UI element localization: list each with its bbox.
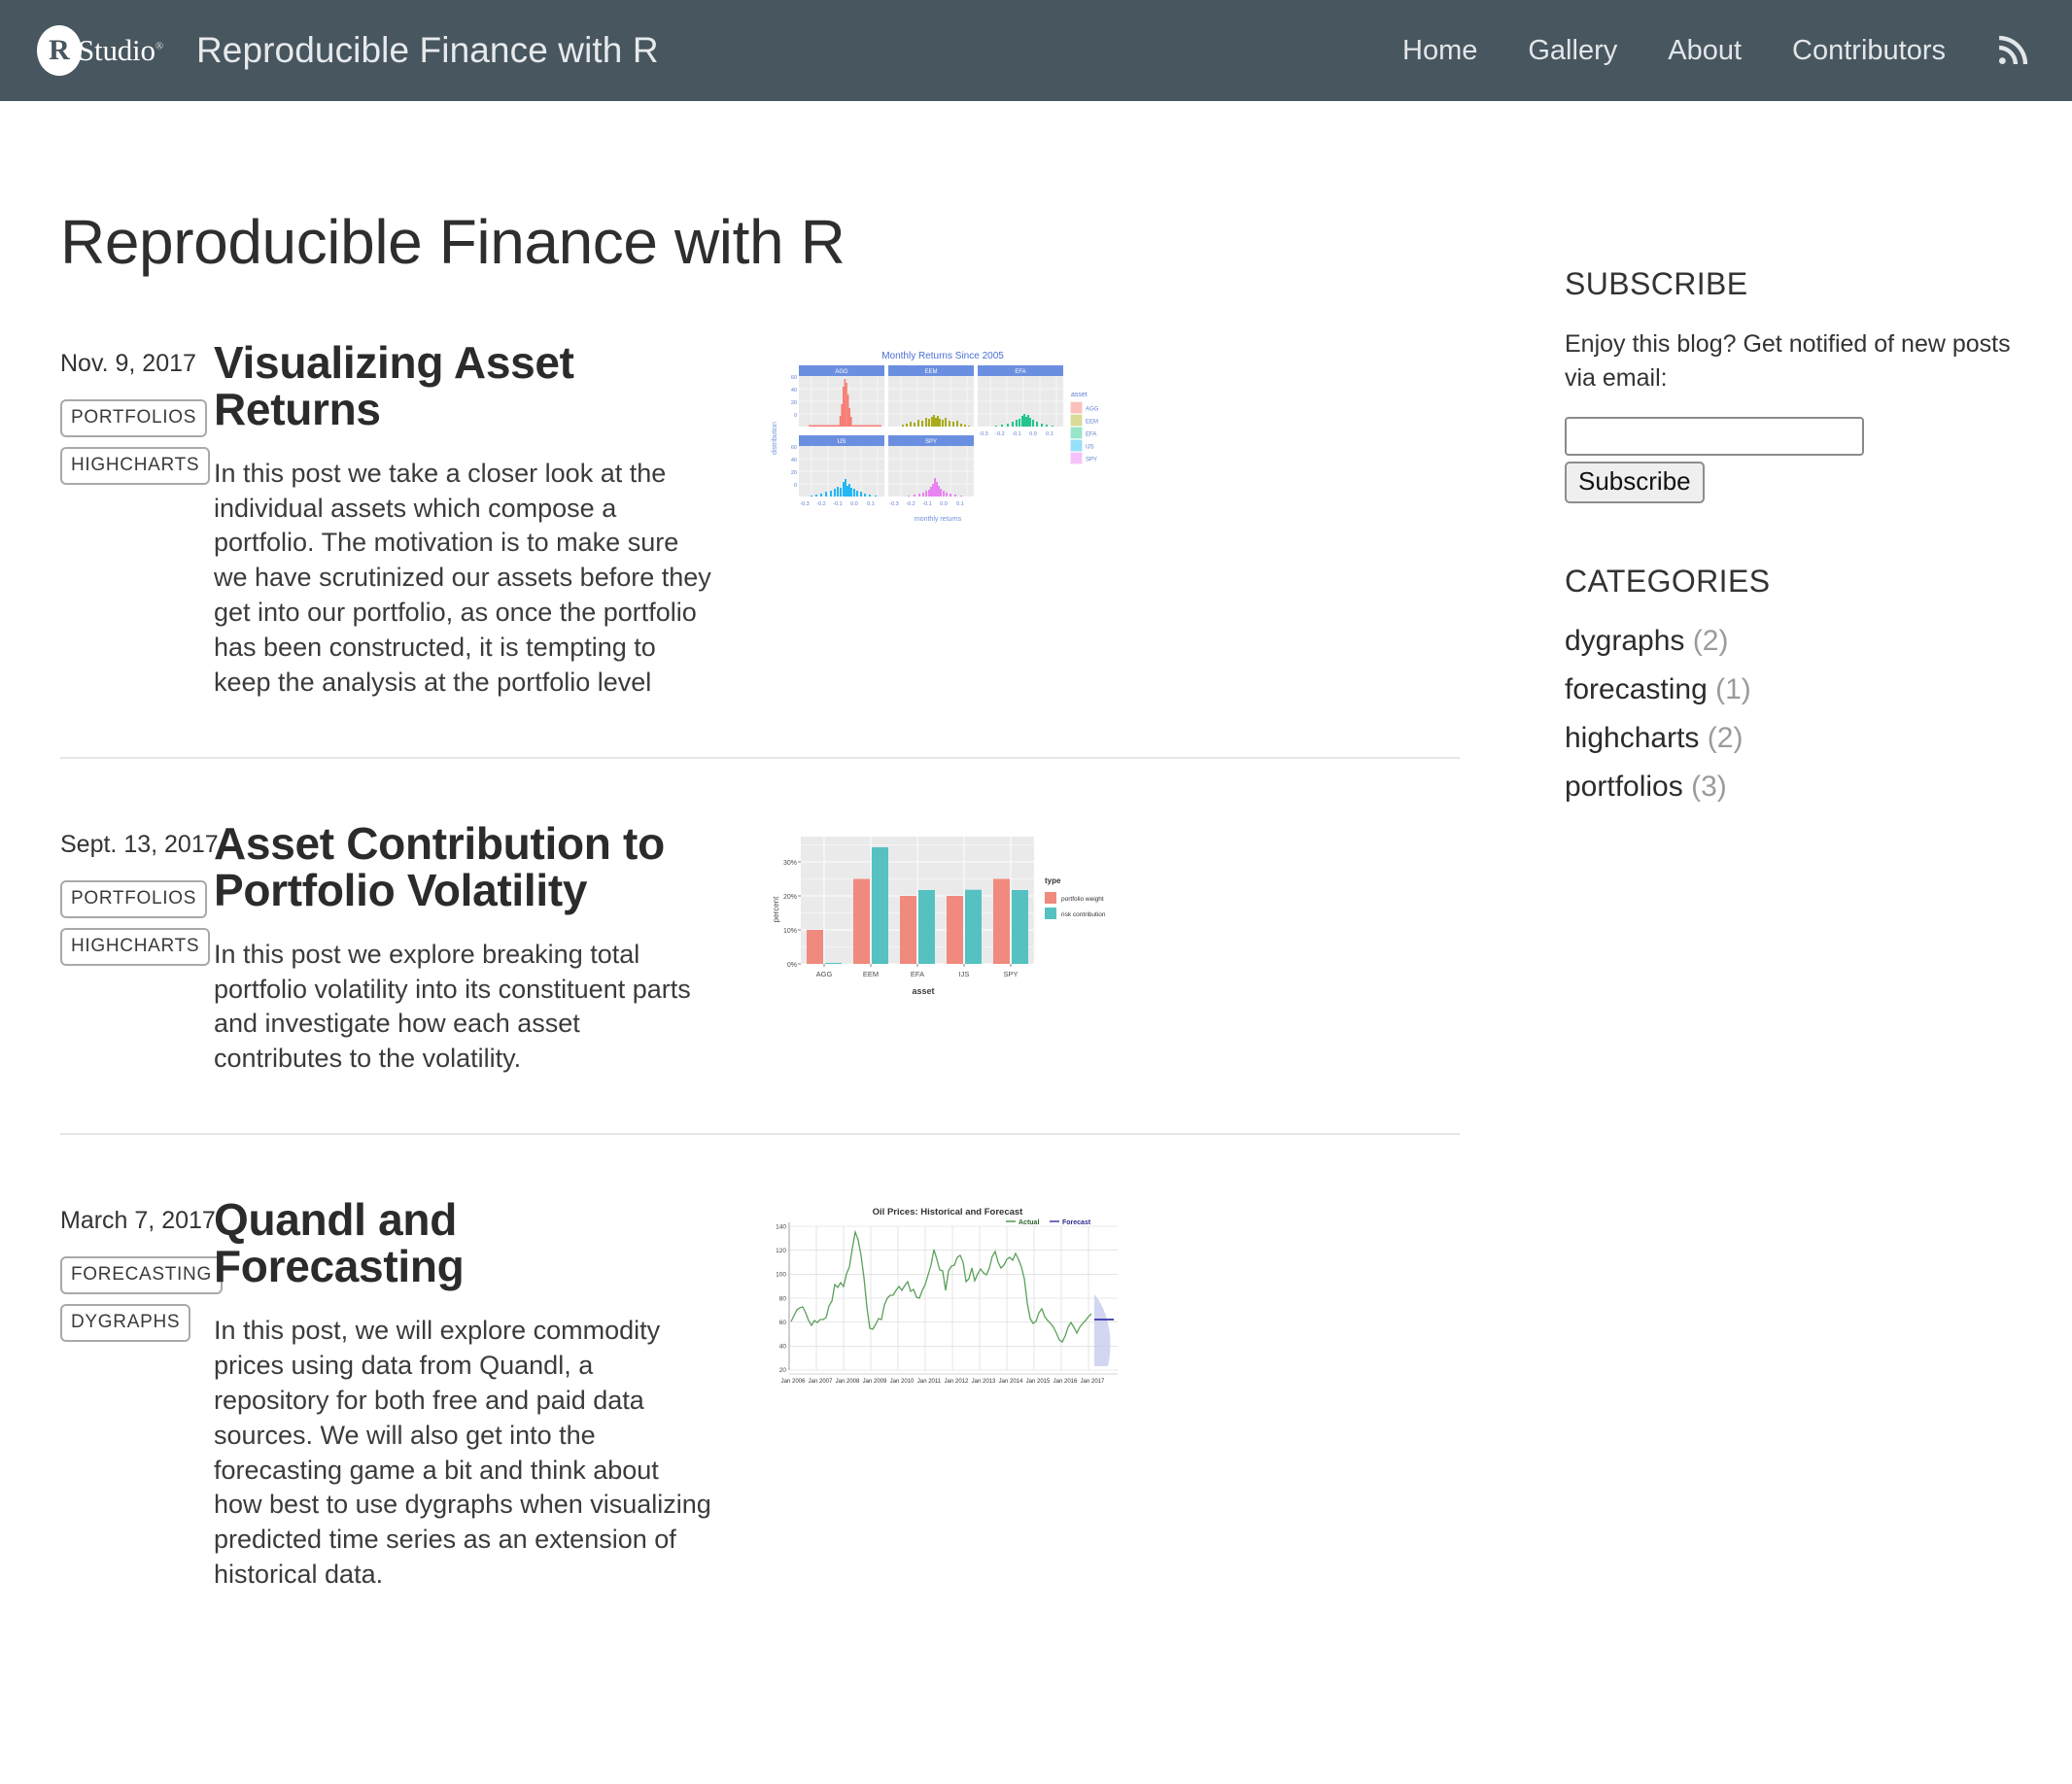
svg-text:0%: 0% xyxy=(787,962,797,969)
post-meta: Nov. 9, 2017 PORTFOLIOS HIGHCHARTS xyxy=(60,340,214,701)
svg-text:percent: percent xyxy=(772,896,780,922)
post-body: Quandl and Forecasting In this post, we … xyxy=(214,1197,711,1593)
categories-heading: CATEGORIES xyxy=(1565,564,2012,600)
svg-text:asset: asset xyxy=(912,986,934,996)
nav-link-gallery[interactable]: Gallery xyxy=(1502,35,1642,67)
nav-link-contributors[interactable]: Contributors xyxy=(1767,35,1971,67)
post-tag[interactable]: FORECASTING xyxy=(60,1256,223,1294)
post-item: March 7, 2017 FORECASTING DYGRAPHS Quand… xyxy=(60,1133,1460,1649)
category-item[interactable]: portfolios (3) xyxy=(1565,771,2012,804)
svg-text:Monthly Returns Since 2005: Monthly Returns Since 2005 xyxy=(881,351,1004,361)
svg-text:-0.1: -0.1 xyxy=(833,501,842,507)
category-label: forecasting xyxy=(1565,673,1708,705)
subscribe-description: Enjoy this blog? Get notified of new pos… xyxy=(1565,327,2012,395)
svg-text:Jan 2014: Jan 2014 xyxy=(999,1379,1023,1385)
registered-trademark-icon: ® xyxy=(155,41,163,52)
svg-text:0: 0 xyxy=(794,483,797,489)
post-thumbnail-linechart[interactable]: Oil Prices: Historical and Forecast Actu… xyxy=(711,1197,1460,1593)
post-tag[interactable]: HIGHCHARTS xyxy=(60,928,210,966)
post-excerpt: In this post, we will explore commodity … xyxy=(214,1314,711,1593)
svg-text:AGG: AGG xyxy=(835,369,848,375)
svg-text:30%: 30% xyxy=(783,860,797,867)
svg-text:-0.1: -0.1 xyxy=(1012,431,1020,437)
svg-text:-0.2: -0.2 xyxy=(816,501,825,507)
post-excerpt: In this post we take a closer look at th… xyxy=(214,457,711,701)
post-title[interactable]: Quandl and Forecasting xyxy=(214,1197,711,1290)
categories-list: dygraphs (2) forecasting (1) highcharts … xyxy=(1565,625,2012,804)
svg-text:portfolio weight: portfolio weight xyxy=(1061,896,1104,903)
category-item[interactable]: dygraphs (2) xyxy=(1565,625,2012,658)
post-date: March 7, 2017 xyxy=(60,1207,214,1235)
rstudio-logo-word: Studio® xyxy=(78,33,163,68)
post-meta: March 7, 2017 FORECASTING DYGRAPHS xyxy=(60,1197,214,1593)
category-item[interactable]: forecasting (1) xyxy=(1565,673,2012,706)
post-tags: FORECASTING DYGRAPHS xyxy=(60,1256,214,1352)
rstudio-logo-letter: R xyxy=(37,25,82,76)
svg-text:EEM: EEM xyxy=(1086,420,1098,426)
svg-text:0.0: 0.0 xyxy=(1029,431,1037,437)
post-tag[interactable]: DYGRAPHS xyxy=(60,1304,190,1342)
page-container: Reproducible Finance with R Nov. 9, 2017… xyxy=(0,101,2072,1649)
svg-text:40: 40 xyxy=(791,458,797,463)
svg-text:Jan 2017: Jan 2017 xyxy=(1081,1379,1105,1385)
category-link-highcharts[interactable]: highcharts xyxy=(1565,722,1699,754)
post-meta: Sept. 13, 2017 PORTFOLIOS HIGHCHARTS xyxy=(60,821,214,1077)
categories-section: CATEGORIES dygraphs (2) forecasting (1) … xyxy=(1565,564,2012,804)
svg-text:0.0: 0.0 xyxy=(850,501,858,507)
post-thumbnail-histogram[interactable]: Monthly Returns Since 2005 distribution … xyxy=(711,340,1460,701)
category-label: portfolios xyxy=(1565,771,1683,803)
svg-text:Jan 2010: Jan 2010 xyxy=(890,1379,915,1385)
post-thumbnail-barchart[interactable]: percent asset xyxy=(711,821,1460,1077)
asset-contribution-bar-chart: percent asset xyxy=(768,827,1118,1002)
svg-text:distribution: distribution xyxy=(772,422,778,455)
svg-text:risk contribution: risk contribution xyxy=(1061,911,1106,918)
svg-text:40: 40 xyxy=(791,388,797,394)
post-date: Nov. 9, 2017 xyxy=(60,350,214,378)
post-tags: PORTFOLIOS HIGHCHARTS xyxy=(60,880,214,976)
svg-text:120: 120 xyxy=(776,1248,786,1254)
svg-text:Jan 2011: Jan 2011 xyxy=(917,1379,942,1385)
svg-text:EFA: EFA xyxy=(1015,369,1025,375)
content-column: Reproducible Finance with R Nov. 9, 2017… xyxy=(60,101,1460,1649)
svg-text:EEM: EEM xyxy=(863,970,879,978)
svg-text:IJS: IJS xyxy=(959,970,970,978)
svg-text:0: 0 xyxy=(794,413,797,419)
subscribe-section: SUBSCRIBE Enjoy this blog? Get notified … xyxy=(1565,266,2012,503)
post-date: Sept. 13, 2017 xyxy=(60,831,214,859)
svg-text:Jan 2008: Jan 2008 xyxy=(836,1379,860,1385)
category-item[interactable]: highcharts (2) xyxy=(1565,722,2012,755)
svg-text:monthly returns: monthly returns xyxy=(915,516,962,523)
svg-text:0.0: 0.0 xyxy=(940,501,948,507)
svg-text:0.1: 0.1 xyxy=(867,501,875,507)
svg-text:40: 40 xyxy=(779,1344,787,1351)
rss-icon[interactable] xyxy=(1971,34,2033,67)
svg-text:60: 60 xyxy=(791,445,797,451)
category-count: (2) xyxy=(1708,722,1744,754)
category-count: (1) xyxy=(1715,673,1751,705)
svg-text:Jan 2013: Jan 2013 xyxy=(972,1379,996,1385)
subscribe-heading: SUBSCRIBE xyxy=(1565,266,2012,302)
svg-text:-0.3: -0.3 xyxy=(889,501,898,507)
svg-text:Jan 2009: Jan 2009 xyxy=(863,1379,887,1385)
svg-text:60: 60 xyxy=(791,375,797,381)
post-item: Sept. 13, 2017 PORTFOLIOS HIGHCHARTS Ass… xyxy=(60,757,1460,1133)
svg-text:100: 100 xyxy=(776,1272,786,1279)
svg-text:EFA: EFA xyxy=(1086,432,1096,438)
svg-text:Jan 2015: Jan 2015 xyxy=(1026,1379,1051,1385)
rstudio-logo-icon: R Studio® xyxy=(37,25,163,76)
svg-text:SPY: SPY xyxy=(1086,458,1097,463)
post-body: Asset Contribution to Portfolio Volatili… xyxy=(214,821,711,1077)
svg-text:-0.3: -0.3 xyxy=(800,501,809,507)
svg-text:Jan 2007: Jan 2007 xyxy=(809,1379,833,1385)
svg-text:Forecast: Forecast xyxy=(1062,1219,1091,1226)
post-tags: PORTFOLIOS HIGHCHARTS xyxy=(60,399,214,495)
page-title: Reproducible Finance with R xyxy=(60,206,1460,278)
svg-text:SPY: SPY xyxy=(925,439,937,445)
svg-text:type: type xyxy=(1045,876,1061,885)
svg-text:-0.1: -0.1 xyxy=(922,501,931,507)
svg-text:20: 20 xyxy=(791,400,797,406)
svg-text:SPY: SPY xyxy=(1003,970,1018,978)
category-link-dygraphs[interactable]: dygraphs xyxy=(1565,625,1684,657)
post-tag[interactable]: PORTFOLIOS xyxy=(60,399,207,437)
svg-text:IJS: IJS xyxy=(838,439,846,445)
primary-nav: Home Gallery About Contributors xyxy=(1377,34,2033,67)
category-label: highcharts xyxy=(1565,722,1699,754)
post-item: Nov. 9, 2017 PORTFOLIOS HIGHCHARTS Visua… xyxy=(60,278,1460,757)
post-tag[interactable]: HIGHCHARTS xyxy=(60,447,210,485)
svg-text:20: 20 xyxy=(779,1367,787,1374)
svg-text:Jan 2016: Jan 2016 xyxy=(1053,1379,1078,1385)
svg-text:EFA: EFA xyxy=(911,970,924,978)
category-label: dygraphs xyxy=(1565,625,1684,657)
svg-text:20%: 20% xyxy=(783,894,797,901)
nav-link-home[interactable]: Home xyxy=(1377,35,1502,67)
svg-text:10%: 10% xyxy=(783,928,797,935)
category-count: (2) xyxy=(1693,625,1729,657)
svg-text:-0.3: -0.3 xyxy=(979,431,987,437)
svg-text:80: 80 xyxy=(779,1296,787,1303)
svg-text:Actual: Actual xyxy=(1019,1219,1039,1226)
top-navbar: R Studio® Reproducible Finance with R Ho… xyxy=(0,0,2072,101)
svg-text:IJS: IJS xyxy=(1086,445,1094,451)
svg-text:EEM: EEM xyxy=(924,369,937,375)
svg-text:0.1: 0.1 xyxy=(1046,431,1053,437)
svg-text:-0.2: -0.2 xyxy=(995,431,1004,437)
category-link-portfolios[interactable]: portfolios xyxy=(1565,771,1683,803)
site-title: Reproducible Finance with R xyxy=(196,30,659,71)
svg-text:20: 20 xyxy=(791,470,797,476)
svg-text:Jan 2012: Jan 2012 xyxy=(945,1379,969,1385)
svg-text:asset: asset xyxy=(1071,392,1088,398)
category-link-forecasting[interactable]: forecasting xyxy=(1565,673,1708,705)
category-count: (3) xyxy=(1691,771,1727,803)
svg-text:Oil Prices: Historical and For: Oil Prices: Historical and Forecast xyxy=(873,1207,1024,1218)
post-excerpt: In this post we explore breaking total p… xyxy=(214,938,711,1078)
monthly-returns-histogram-chart: Monthly Returns Since 2005 distribution … xyxy=(768,346,1118,526)
subscribe-email-input[interactable] xyxy=(1565,417,1864,456)
svg-text:60: 60 xyxy=(779,1320,787,1326)
svg-text:Jan 2006: Jan 2006 xyxy=(781,1379,806,1385)
post-body: Visualizing Asset Returns In this post w… xyxy=(214,340,711,701)
post-tag[interactable]: PORTFOLIOS xyxy=(60,880,207,918)
subscribe-button[interactable]: Subscribe xyxy=(1565,462,1705,503)
sidebar: SUBSCRIBE Enjoy this blog? Get notified … xyxy=(1460,101,2012,1649)
nav-link-about[interactable]: About xyxy=(1642,35,1767,67)
svg-text:AGG: AGG xyxy=(816,970,833,978)
svg-text:0.1: 0.1 xyxy=(956,501,964,507)
oil-prices-line-chart: Oil Prices: Historical and Forecast Actu… xyxy=(768,1203,1127,1392)
svg-text:-0.2: -0.2 xyxy=(906,501,915,507)
post-title[interactable]: Visualizing Asset Returns xyxy=(214,340,711,433)
svg-text:AGG: AGG xyxy=(1086,407,1099,413)
svg-text:140: 140 xyxy=(776,1224,786,1231)
brand[interactable]: R Studio® Reproducible Finance with R xyxy=(37,25,659,76)
post-title[interactable]: Asset Contribution to Portfolio Volatili… xyxy=(214,821,711,914)
